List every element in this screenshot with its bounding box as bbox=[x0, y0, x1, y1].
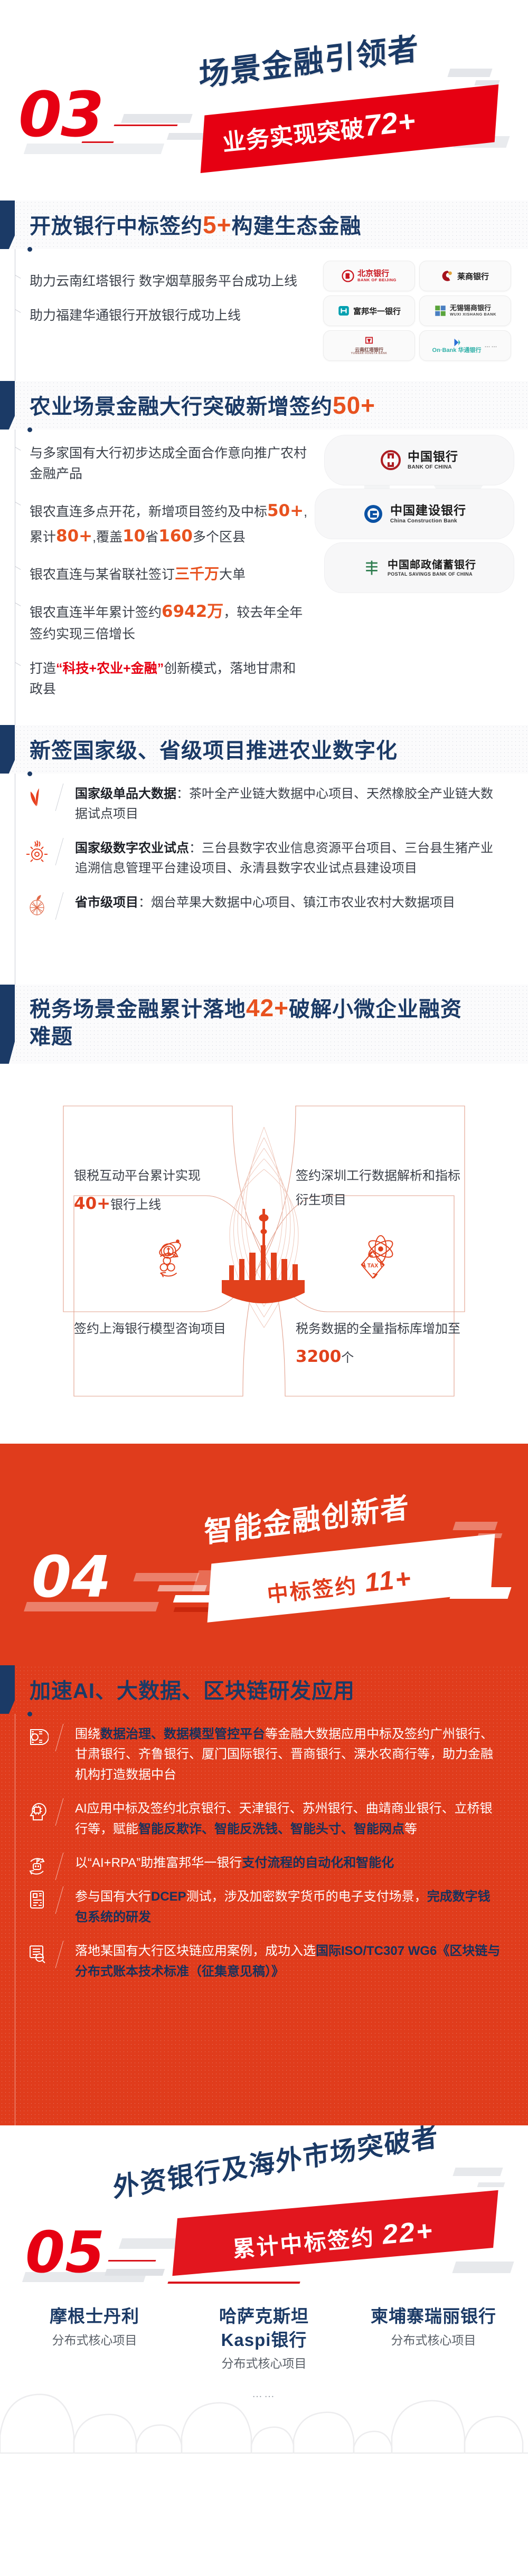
logo-text: 中国建设银行 China Construction Bank bbox=[390, 503, 466, 524]
tax-card-2: 签约深圳工行数据解析和指标衍生项目 bbox=[296, 1164, 470, 1212]
item-body: ：烟台苹果大数据中心项目、镇江市农业农村大数据项目 bbox=[138, 895, 455, 910]
list-item: 国家级数字农业试点：三台县数字农业信息资源平台项目、三台县生猪产业追溯信息管理平… bbox=[0, 838, 528, 879]
item-text: 落地某国有大行区块链应用案例，成功入选国际ISO/TC307 WG6《区块链与分… bbox=[75, 1941, 503, 1982]
overseas-item-2: 哈萨克斯坦 Kaspi银行 分布式核心项目 bbox=[189, 2305, 340, 2372]
agri-bullets: 与多家国有大行初步达成全面合作意向推广农村金融产品 银农直连多点开花，新增项目签… bbox=[21, 443, 309, 713]
divider-slash bbox=[55, 1941, 64, 1968]
fubon-huayi-bank-icon bbox=[337, 304, 350, 317]
svg-text:TAX: TAX bbox=[367, 1263, 379, 1269]
national-project-list: 国家级单品大数据：茶叶全产业链大数据中心项目、天然橡胶全产业链大数据试点项目 国… bbox=[0, 774, 528, 932]
decor-line bbox=[167, 2282, 300, 2284]
bank-logo-card: 无锡锡商银行 WUXI XISHANG BANK bbox=[419, 295, 511, 326]
open-bank-heading: 开放银行中标签约5+构建生态金融 bbox=[30, 209, 361, 240]
hero-section-04: 04 智能金融创新者 中标签约 11+ bbox=[0, 1444, 528, 1665]
hero-03-title: 场景金融引领者 bbox=[199, 23, 419, 95]
logo-text: 无锡锡商银行 WUXI XISHANG BANK bbox=[450, 304, 496, 317]
bank-logo-card: 莱商银行 bbox=[419, 261, 511, 291]
list-item: 围绕数据治理、数据模型管控平台等金融大数据应用中标及签约广州银行、甘肃银行、齐鲁… bbox=[0, 1724, 528, 1785]
tax-heading: 税务场景金融累计落地42+破解小微企业融资难题 bbox=[30, 993, 463, 1050]
list-item: 落地某国有大行区块链应用案例，成功入选国际ISO/TC307 WG6《区块链与分… bbox=[0, 1941, 528, 1982]
divider-slash bbox=[55, 784, 64, 811]
logo-cn: 无锡锡商银行 bbox=[450, 304, 496, 312]
tax-card-3: 签约上海银行模型咨询项目 bbox=[74, 1317, 248, 1341]
decor-band bbox=[452, 2262, 514, 2273]
item-text: AI应用中标及签约北京银行、天津银行、苏州银行、曲靖商业银行、立桥银行等，赋能智… bbox=[75, 1799, 503, 1839]
list-item: 助力福建华通银行开放银行成功上线 bbox=[21, 306, 317, 326]
connector-line bbox=[15, 249, 15, 381]
infographic-page: 03 场景金融引领者 业务实现突破72+ 开放银行中标签约5+构建生态金融 助力… bbox=[0, 0, 528, 2454]
tax-diagram: 银税互动平台累计实现40+银行上线 签约深圳工行数据解析和指标衍生项目 bbox=[0, 1064, 528, 1444]
hero-05-number: 05 bbox=[25, 2225, 105, 2282]
card-pre: 银税互动平台累计实现 bbox=[74, 1169, 201, 1183]
item-text: 以“AI+RPA”助推富邦华一银行支付流程的自动化和智能化 bbox=[75, 1853, 503, 1873]
section-heading-open-bank: 开放银行中标签约5+构建生态金融 bbox=[0, 201, 528, 249]
hero-05-badge-value: 22+ bbox=[381, 2215, 435, 2250]
bank-of-beijing-icon bbox=[342, 270, 354, 282]
divider-slash bbox=[55, 892, 64, 919]
logo-en: POSTAL SAVINGS BANK OF CHINA bbox=[388, 571, 476, 577]
certificate-icon bbox=[25, 1942, 49, 1966]
agri-body: 与多家国有大行初步达成全面合作意向推广农村金融产品 银农直连多点开花，新增项目签… bbox=[0, 430, 528, 725]
tax-card-4: TAX 税务数据的全量指标库增加至3200个 bbox=[296, 1317, 470, 1372]
agri-heading: 农业场景金融大行突破新增签约50+ bbox=[30, 389, 375, 420]
section-heading-national: 新签国家级、省级项目推进农业数字化 bbox=[0, 725, 528, 774]
list-item: 银农直连与某省联社签订三千万大单 bbox=[21, 562, 309, 585]
overseas-item-3: 柬埔寨瑞丽银行 分布式核心项目 bbox=[359, 2305, 509, 2372]
card-post: 个 bbox=[341, 1351, 354, 1365]
ai-brain-icon bbox=[25, 1800, 49, 1823]
heading-pre: 农业场景金融大行突破新增签约 bbox=[30, 395, 333, 418]
bank-logo-card: 中国建设银行 China Construction Bank bbox=[315, 489, 514, 539]
item-text: 国家级单品大数据：茶叶全产业链大数据中心项目、天然橡胶全产业链大数据试点项目 bbox=[75, 784, 503, 825]
china-construction-bank-icon bbox=[363, 503, 384, 524]
bullet-text: 助力福建华通银行开放银行成功上线 bbox=[30, 306, 317, 326]
logo-text: 北京银行 BANK OF BEIJING bbox=[357, 269, 397, 283]
postal-savings-bank-icon bbox=[362, 558, 381, 577]
ai-heading: 加速AI、大数据、区块链研发应用 bbox=[30, 1674, 355, 1704]
hero-05-title: 外资银行及海外市场突破者 bbox=[112, 2125, 439, 2205]
list-item: 参与国有大行DCEP测试，涉及加密数字货币的电子支付场景，完成数字钱包系统的研发 bbox=[0, 1887, 528, 1928]
city-skyline-icon bbox=[222, 1209, 305, 1303]
overseas-section: 摩根士丹利 分布式核心项目 哈萨克斯坦 Kaspi银行 分布式核心项目 柬埔寨瑞… bbox=[0, 2300, 528, 2454]
list-item: 银农直连多点开花，新增项目签约及中标50+,累计80+,覆盖10省160多个区县 bbox=[21, 498, 309, 549]
decor-band bbox=[452, 2168, 503, 2176]
open-bank-logo-grid: 北京银行 BANK OF BEIJING 莱商银行 富邦华一银行 无锡锡商银行 … bbox=[323, 261, 513, 361]
logo-text: On·Bank 华通银行 bbox=[432, 338, 482, 354]
sprout-icon bbox=[25, 785, 49, 808]
wuxi-xishang-bank-icon bbox=[434, 304, 447, 317]
logo-text: 中国邮政储蓄银行 POSTAL SAVINGS BANK OF CHINA bbox=[388, 559, 476, 577]
bank-name: 柬埔寨瑞丽银行 bbox=[359, 2305, 509, 2329]
hero-03-badge-value: 72+ bbox=[362, 104, 417, 142]
logo-en: China Construction Bank bbox=[390, 518, 466, 524]
hero-04-badge-value: 11+ bbox=[363, 1563, 413, 1598]
national-body: 国家级单品大数据：茶叶全产业链大数据中心项目、天然橡胶全产业链大数据试点项目 国… bbox=[0, 774, 528, 985]
agri-logo-stack: 中国银行 BANK OF CHINA 中国建设银行 China Construc… bbox=[314, 435, 514, 596]
decor-band bbox=[477, 2182, 505, 2187]
tax-petal-shapes bbox=[0, 1064, 528, 1444]
logo-cn: 中国建设银行 bbox=[390, 503, 466, 518]
overseas-columns: 摩根士丹利 分布式核心项目 哈萨克斯坦 Kaspi银行 分布式核心项目 柬埔寨瑞… bbox=[0, 2300, 528, 2372]
decor-band bbox=[121, 114, 193, 123]
item-label: 国家级数字农业试点 bbox=[75, 841, 189, 855]
divider-slash bbox=[55, 1853, 64, 1880]
heading-pre: 开放银行中标签约 bbox=[30, 215, 203, 238]
hero-04-number: 04 bbox=[32, 1549, 111, 1606]
item-text: 省市级项目：烟台苹果大数据中心项目、镇江市农业农村大数据项目 bbox=[75, 893, 503, 913]
bank-logo-card: 北京银行 BANK OF BEIJING bbox=[323, 261, 415, 291]
open-bank-bullets: 助力云南红塔银行 数字烟草服务平台成功上线 助力福建华通银行开放银行成功上线 bbox=[21, 271, 317, 340]
logo-text: 云南红塔银行 YUNNAN HONGTA BANK bbox=[351, 336, 388, 356]
bullet-text: 银农直连半年累计签约6942万，较去年全年签约实现三倍增长 bbox=[30, 599, 309, 645]
list-item: 以“AI+RPA”助推富邦华一银行支付流程的自动化和智能化 bbox=[0, 1853, 528, 1873]
heading-post: 构建生态金融 bbox=[231, 215, 361, 238]
heading-number: 50+ bbox=[333, 392, 375, 419]
hero-03-title-block: 场景金融引领者 业务实现突破72+ bbox=[190, 32, 517, 185]
project-type: 分布式核心项目 bbox=[189, 2355, 340, 2372]
list-item: 省市级项目：烟台苹果大数据中心项目、镇江市农业农村大数据项目 bbox=[0, 893, 528, 913]
item-text: 国家级数字农业试点：三台县数字农业信息资源平台项目、三台县生猪产业追溯信息管理平… bbox=[75, 838, 503, 879]
ai-project-list: 围绕数据治理、数据模型管控平台等金融大数据应用中标及签约广州银行、甘肃银行、齐鲁… bbox=[0, 1714, 528, 2001]
bank-of-china-icon bbox=[380, 450, 401, 471]
bullet-text: 打造“科技+农业+金融”创新模式，落地甘肃和政县 bbox=[30, 659, 309, 700]
divider-slash bbox=[55, 1886, 64, 1914]
card-pre: 签约深圳工行数据解析和指标衍生项目 bbox=[296, 1169, 460, 1207]
bank-name: 哈萨克斯坦 Kaspi银行 bbox=[189, 2305, 340, 2352]
logo-cn: 莱商银行 bbox=[457, 271, 489, 282]
laishang-bank-icon bbox=[441, 270, 454, 282]
hero-section-05: 05 外资银行及海外市场突破者 累计中标签约 22+ bbox=[0, 2125, 528, 2300]
section-heading-ai: 加速AI、大数据、区块链研发应用 bbox=[0, 1665, 528, 1714]
tax-card-1: 银税互动平台累计实现40+银行上线 bbox=[74, 1164, 248, 1219]
section-heading-agri: 农业场景金融大行突破新增签约50+ bbox=[0, 381, 528, 430]
onbank-icon bbox=[452, 338, 461, 347]
card-pre: 签约上海银行模型咨询项目 bbox=[74, 1322, 226, 1336]
project-type: 分布式核心项目 bbox=[359, 2332, 509, 2349]
logo-en: BANK OF CHINA bbox=[408, 464, 458, 471]
item-text: 围绕数据治理、数据模型管控平台等金融大数据应用中标及签约广州银行、甘肃银行、齐鲁… bbox=[75, 1724, 503, 1785]
logo-cn: 中国邮政储蓄银行 bbox=[388, 559, 476, 571]
card-text: 签约深圳工行数据解析和指标衍生项目 bbox=[296, 1164, 470, 1212]
card-num: 40+ bbox=[74, 1194, 110, 1213]
divider-slash bbox=[55, 1798, 64, 1826]
card-num: 3200 bbox=[296, 1347, 341, 1366]
overseas-item-1: 摩根士丹利 分布式核心项目 bbox=[20, 2305, 170, 2372]
logo-en: WUXI XISHANG BANK bbox=[450, 312, 496, 317]
bank-logo-card: 富邦华一银行 bbox=[323, 295, 415, 326]
connector-line bbox=[15, 430, 15, 725]
divider-slash bbox=[55, 838, 64, 865]
heading-number: 42+ bbox=[246, 994, 289, 1022]
card-text: 银税互动平台累计实现40+银行上线 bbox=[74, 1164, 248, 1219]
logo-en: BANK OF BEIJING bbox=[357, 278, 397, 283]
item-label: 国家级单品大数据 bbox=[75, 787, 176, 801]
ai-body: 围绕数据治理、数据模型管控平台等金融大数据应用中标及签约广州银行、甘肃银行、齐鲁… bbox=[0, 1714, 528, 2125]
list-item: 助力云南红塔银行 数字烟草服务平台成功上线 bbox=[21, 271, 317, 292]
decor-line bbox=[108, 2260, 156, 2262]
list-item: 国家级单品大数据：茶叶全产业链大数据中心项目、天然橡胶全产业链大数据试点项目 bbox=[0, 784, 528, 825]
hero-03-number: 03 bbox=[18, 83, 103, 146]
card-post: 银行上线 bbox=[110, 1198, 161, 1212]
apple-icon bbox=[25, 894, 49, 917]
digital-currency-icon bbox=[25, 1888, 49, 1911]
item-label: 省市级项目 bbox=[75, 895, 138, 910]
decor-band bbox=[452, 1522, 497, 1530]
connector-dot bbox=[27, 247, 32, 252]
hero-04-title: 智能金融创新者 bbox=[204, 1484, 410, 1551]
card-text: 税务数据的全量指标库增加至3200个 bbox=[296, 1317, 470, 1372]
list-item: 打造“科技+农业+金融”创新模式，落地甘肃和政县 bbox=[21, 659, 309, 700]
hero-section-03: 03 场景金融引领者 业务实现突破72+ bbox=[0, 0, 528, 201]
heading-pre: 税务场景金融累计落地 bbox=[30, 998, 246, 1021]
heading-number: 5+ bbox=[203, 211, 231, 238]
grain-gear-icon bbox=[25, 839, 49, 863]
list-item: 银农直连半年累计签约6942万，较去年全年签约实现三倍增长 bbox=[21, 599, 309, 645]
project-type: 分布式核心项目 bbox=[20, 2332, 170, 2349]
connector-dot bbox=[27, 427, 32, 432]
list-item: AI应用中标及签约北京银行、天津银行、苏州银行、曲靖商业银行、立桥银行等，赋能智… bbox=[0, 1799, 528, 1839]
bank-logo-card: 中国银行 BANK OF CHINA bbox=[324, 435, 514, 485]
red-section-04: 04 智能金融创新者 中标签约 11+ 加速AI、大数据、区块链研发应用 bbox=[0, 1444, 528, 2125]
open-bank-body: 助力云南红塔银行 数字烟草服务平台成功上线 助力福建华通银行开放银行成功上线 北… bbox=[0, 249, 528, 381]
robot-icon bbox=[25, 1854, 49, 1877]
database-icon bbox=[25, 1725, 49, 1749]
yunnan-hongta-bank-icon bbox=[363, 336, 375, 347]
bullet-text: 与多家国有大行初步达成全面合作意向推广农村金融产品 bbox=[30, 443, 309, 484]
bullet-text: 银农直连多点开花，新增项目签约及中标50+,累计80+,覆盖10省160多个区县 bbox=[30, 498, 309, 549]
logo-cn: 中国银行 bbox=[408, 450, 458, 464]
decor-band bbox=[133, 1573, 199, 1581]
section-heading-tax: 税务场景金融累计落地42+破解小微企业融资难题 bbox=[0, 985, 528, 1064]
overseas-ellipsis: …… bbox=[252, 2388, 276, 2400]
decor-band bbox=[105, 2269, 165, 2276]
bullet-text: 助力云南红塔银行 数字烟草服务平台成功上线 bbox=[30, 271, 317, 292]
national-heading: 新签国家级、省级项目推进农业数字化 bbox=[30, 733, 398, 764]
bank-name: 摩根士丹利 bbox=[20, 2305, 170, 2329]
logo-cn: 富邦华一银行 bbox=[353, 306, 401, 317]
list-item: 与多家国有大行初步达成全面合作意向推广农村金融产品 bbox=[21, 443, 309, 484]
logo-cn: 北京银行 bbox=[357, 269, 397, 278]
item-text: 参与国有大行DCEP测试，涉及加密数字货币的电子支付场景，完成数字钱包系统的研发 bbox=[75, 1887, 503, 1928]
card-text: 签约上海银行模型咨询项目 bbox=[74, 1317, 248, 1341]
divider-slash bbox=[55, 1724, 64, 1751]
card-pre: 税务数据的全量指标库增加至 bbox=[296, 1322, 460, 1336]
logo-text: 中国银行 BANK OF CHINA bbox=[408, 450, 458, 471]
bank-logo-card: On·Bank 华通银行 …… bbox=[419, 330, 511, 361]
tax-cycle-icon: TAX bbox=[356, 1248, 389, 1281]
logo-en: YUNNAN HONGTA BANK bbox=[351, 352, 388, 356]
bank-logo-card: 中国邮政储蓄银行 POSTAL SAVINGS BANK OF CHINA bbox=[324, 542, 514, 593]
bullet-text: 银农直连与某省联社签订三千万大单 bbox=[30, 562, 309, 585]
bank-logo-card: 云南红塔银行 YUNNAN HONGTA BANK bbox=[323, 330, 415, 361]
logo-ellipsis: …… bbox=[484, 342, 498, 349]
decor-line bbox=[114, 125, 178, 126]
cycle-model-icon bbox=[153, 1248, 186, 1281]
logo-cn: On·Bank 华通银行 bbox=[432, 347, 482, 354]
